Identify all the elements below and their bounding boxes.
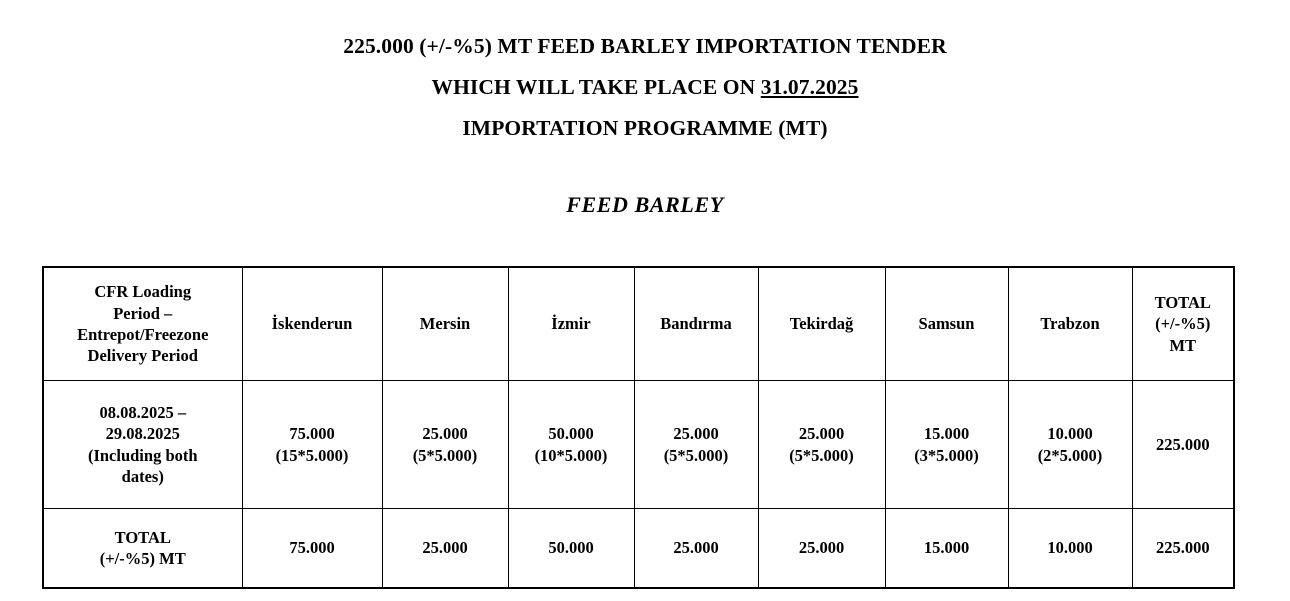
total-trabzon: 10.000 — [1008, 509, 1132, 589]
header-period-line-3: Entrepot/Freezone — [77, 325, 208, 344]
importation-programme-table: CFR Loading Period – Entrepot/Freezone D… — [42, 266, 1235, 589]
cell-iskenderun-quantity: 75.000 (15*5.000) — [242, 381, 382, 509]
total-row-label-line-2: (+/-%5) MT — [100, 549, 186, 568]
table-header-row: CFR Loading Period – Entrepot/Freezone D… — [43, 267, 1234, 381]
total-samsun: 15.000 — [885, 509, 1008, 589]
header-cell-samsun: Samsun — [885, 267, 1008, 381]
header-cell-izmir: İzmir — [508, 267, 634, 381]
cell-mersin-quantity: 25.000 (5*5.000) — [382, 381, 508, 509]
quantity-breakdown: (5*5.000) — [637, 445, 756, 466]
header-period-line-4: Delivery Period — [88, 346, 198, 365]
header-cell-trabzon: Trabzon — [1008, 267, 1132, 381]
quantity-value: 25.000 — [637, 423, 756, 444]
header-cell-iskenderun: İskenderun — [242, 267, 382, 381]
total-row-label: TOTAL (+/-%5) MT — [43, 509, 242, 589]
cell-trabzon-quantity: 10.000 (2*5.000) — [1008, 381, 1132, 509]
quantity-breakdown: (2*5.000) — [1011, 445, 1130, 466]
header-total-line-3: MT — [1169, 336, 1196, 355]
header-total-line-1: TOTAL — [1155, 293, 1211, 312]
table-row: 08.08.2025 – 29.08.2025 (Including both … — [43, 381, 1234, 509]
row-label-line-4: dates) — [122, 467, 164, 486]
quantity-value: 50.000 — [511, 423, 632, 444]
cell-bandirma-quantity: 25.000 (5*5.000) — [634, 381, 758, 509]
cell-tekirdag-quantity: 25.000 (5*5.000) — [758, 381, 885, 509]
row-label-line-1: 08.08.2025 – — [99, 403, 186, 422]
quantity-value: 25.000 — [761, 423, 883, 444]
header-cell-period: CFR Loading Period – Entrepot/Freezone D… — [43, 267, 242, 381]
title-line-2: WHICH WILL TAKE PLACE ON 31.07.2025 — [0, 67, 1290, 108]
quantity-breakdown: (5*5.000) — [385, 445, 506, 466]
document-page: 225.000 (+/-%5) MT FEED BARLEY IMPORTATI… — [0, 0, 1290, 601]
header-cell-bandirma: Bandırma — [634, 267, 758, 381]
title-line-1: 225.000 (+/-%5) MT FEED BARLEY IMPORTATI… — [0, 26, 1290, 67]
row-label-period: 08.08.2025 – 29.08.2025 (Including both … — [43, 381, 242, 509]
total-grand: 225.000 — [1132, 509, 1234, 589]
quantity-value: 10.000 — [1011, 423, 1130, 444]
quantity-breakdown: (5*5.000) — [761, 445, 883, 466]
quantity-value: 75.000 — [245, 423, 380, 444]
cell-row-total: 225.000 — [1132, 381, 1234, 509]
document-title-block: 225.000 (+/-%5) MT FEED BARLEY IMPORTATI… — [0, 26, 1290, 149]
total-tekirdag: 25.000 — [758, 509, 885, 589]
header-period-line-2: Period – — [113, 304, 172, 323]
header-period-line-1: CFR Loading — [94, 282, 191, 301]
quantity-breakdown: (15*5.000) — [245, 445, 380, 466]
quantity-breakdown: (3*5.000) — [888, 445, 1006, 466]
quantity-value: 25.000 — [385, 423, 506, 444]
cell-izmir-quantity: 50.000 (10*5.000) — [508, 381, 634, 509]
total-iskenderun: 75.000 — [242, 509, 382, 589]
total-bandirma: 25.000 — [634, 509, 758, 589]
row-label-line-3: (Including both — [88, 446, 198, 465]
table-total-row: TOTAL (+/-%5) MT 75.000 25.000 50.000 25… — [43, 509, 1234, 589]
quantity-breakdown: (10*5.000) — [511, 445, 632, 466]
total-row-label-line-1: TOTAL — [115, 528, 171, 547]
row-label-line-2: 29.08.2025 — [106, 424, 180, 443]
total-izmir: 50.000 — [508, 509, 634, 589]
header-cell-mersin: Mersin — [382, 267, 508, 381]
title-line-2-text: WHICH WILL TAKE PLACE ON — [431, 75, 760, 99]
header-cell-tekirdag: Tekirdağ — [758, 267, 885, 381]
title-line-3: IMPORTATION PROGRAMME (MT) — [0, 108, 1290, 149]
cell-samsun-quantity: 15.000 (3*5.000) — [885, 381, 1008, 509]
importation-programme-table-wrapper: CFR Loading Period – Entrepot/Freezone D… — [42, 266, 1233, 589]
commodity-subtitle: FEED BARLEY — [0, 192, 1290, 218]
total-mersin: 25.000 — [382, 509, 508, 589]
quantity-value: 15.000 — [888, 423, 1006, 444]
header-total-line-2: (+/-%5) — [1155, 314, 1210, 333]
tender-date: 31.07.2025 — [761, 75, 859, 99]
header-cell-total: TOTAL (+/-%5) MT — [1132, 267, 1234, 381]
